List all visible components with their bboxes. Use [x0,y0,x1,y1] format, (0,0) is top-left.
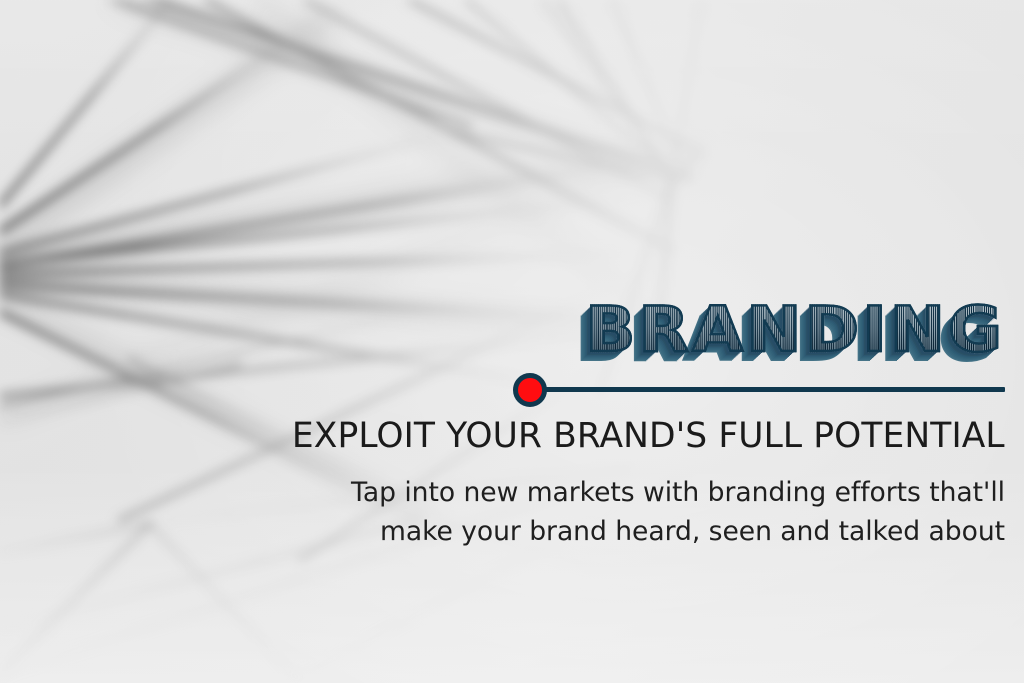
content-layer: BRANDING BRANDING BRANDING EXPLOIT YOUR … [0,0,1024,683]
subheading-line-2: make your brand heard, seen and talked a… [256,512,1005,551]
divider-rule [532,387,1005,392]
eyebrow-branding-outline: BRANDING [585,295,1005,365]
subheading-line-1: Tap into new markets with branding effor… [256,473,1005,512]
branding-banner: BRANDING BRANDING BRANDING EXPLOIT YOUR … [0,0,1024,683]
subheading: Tap into new markets with branding effor… [256,473,1005,551]
divider-dot-icon [513,373,547,407]
page-title: EXPLOIT YOUR BRAND'S FULL POTENTIAL [292,416,1005,456]
